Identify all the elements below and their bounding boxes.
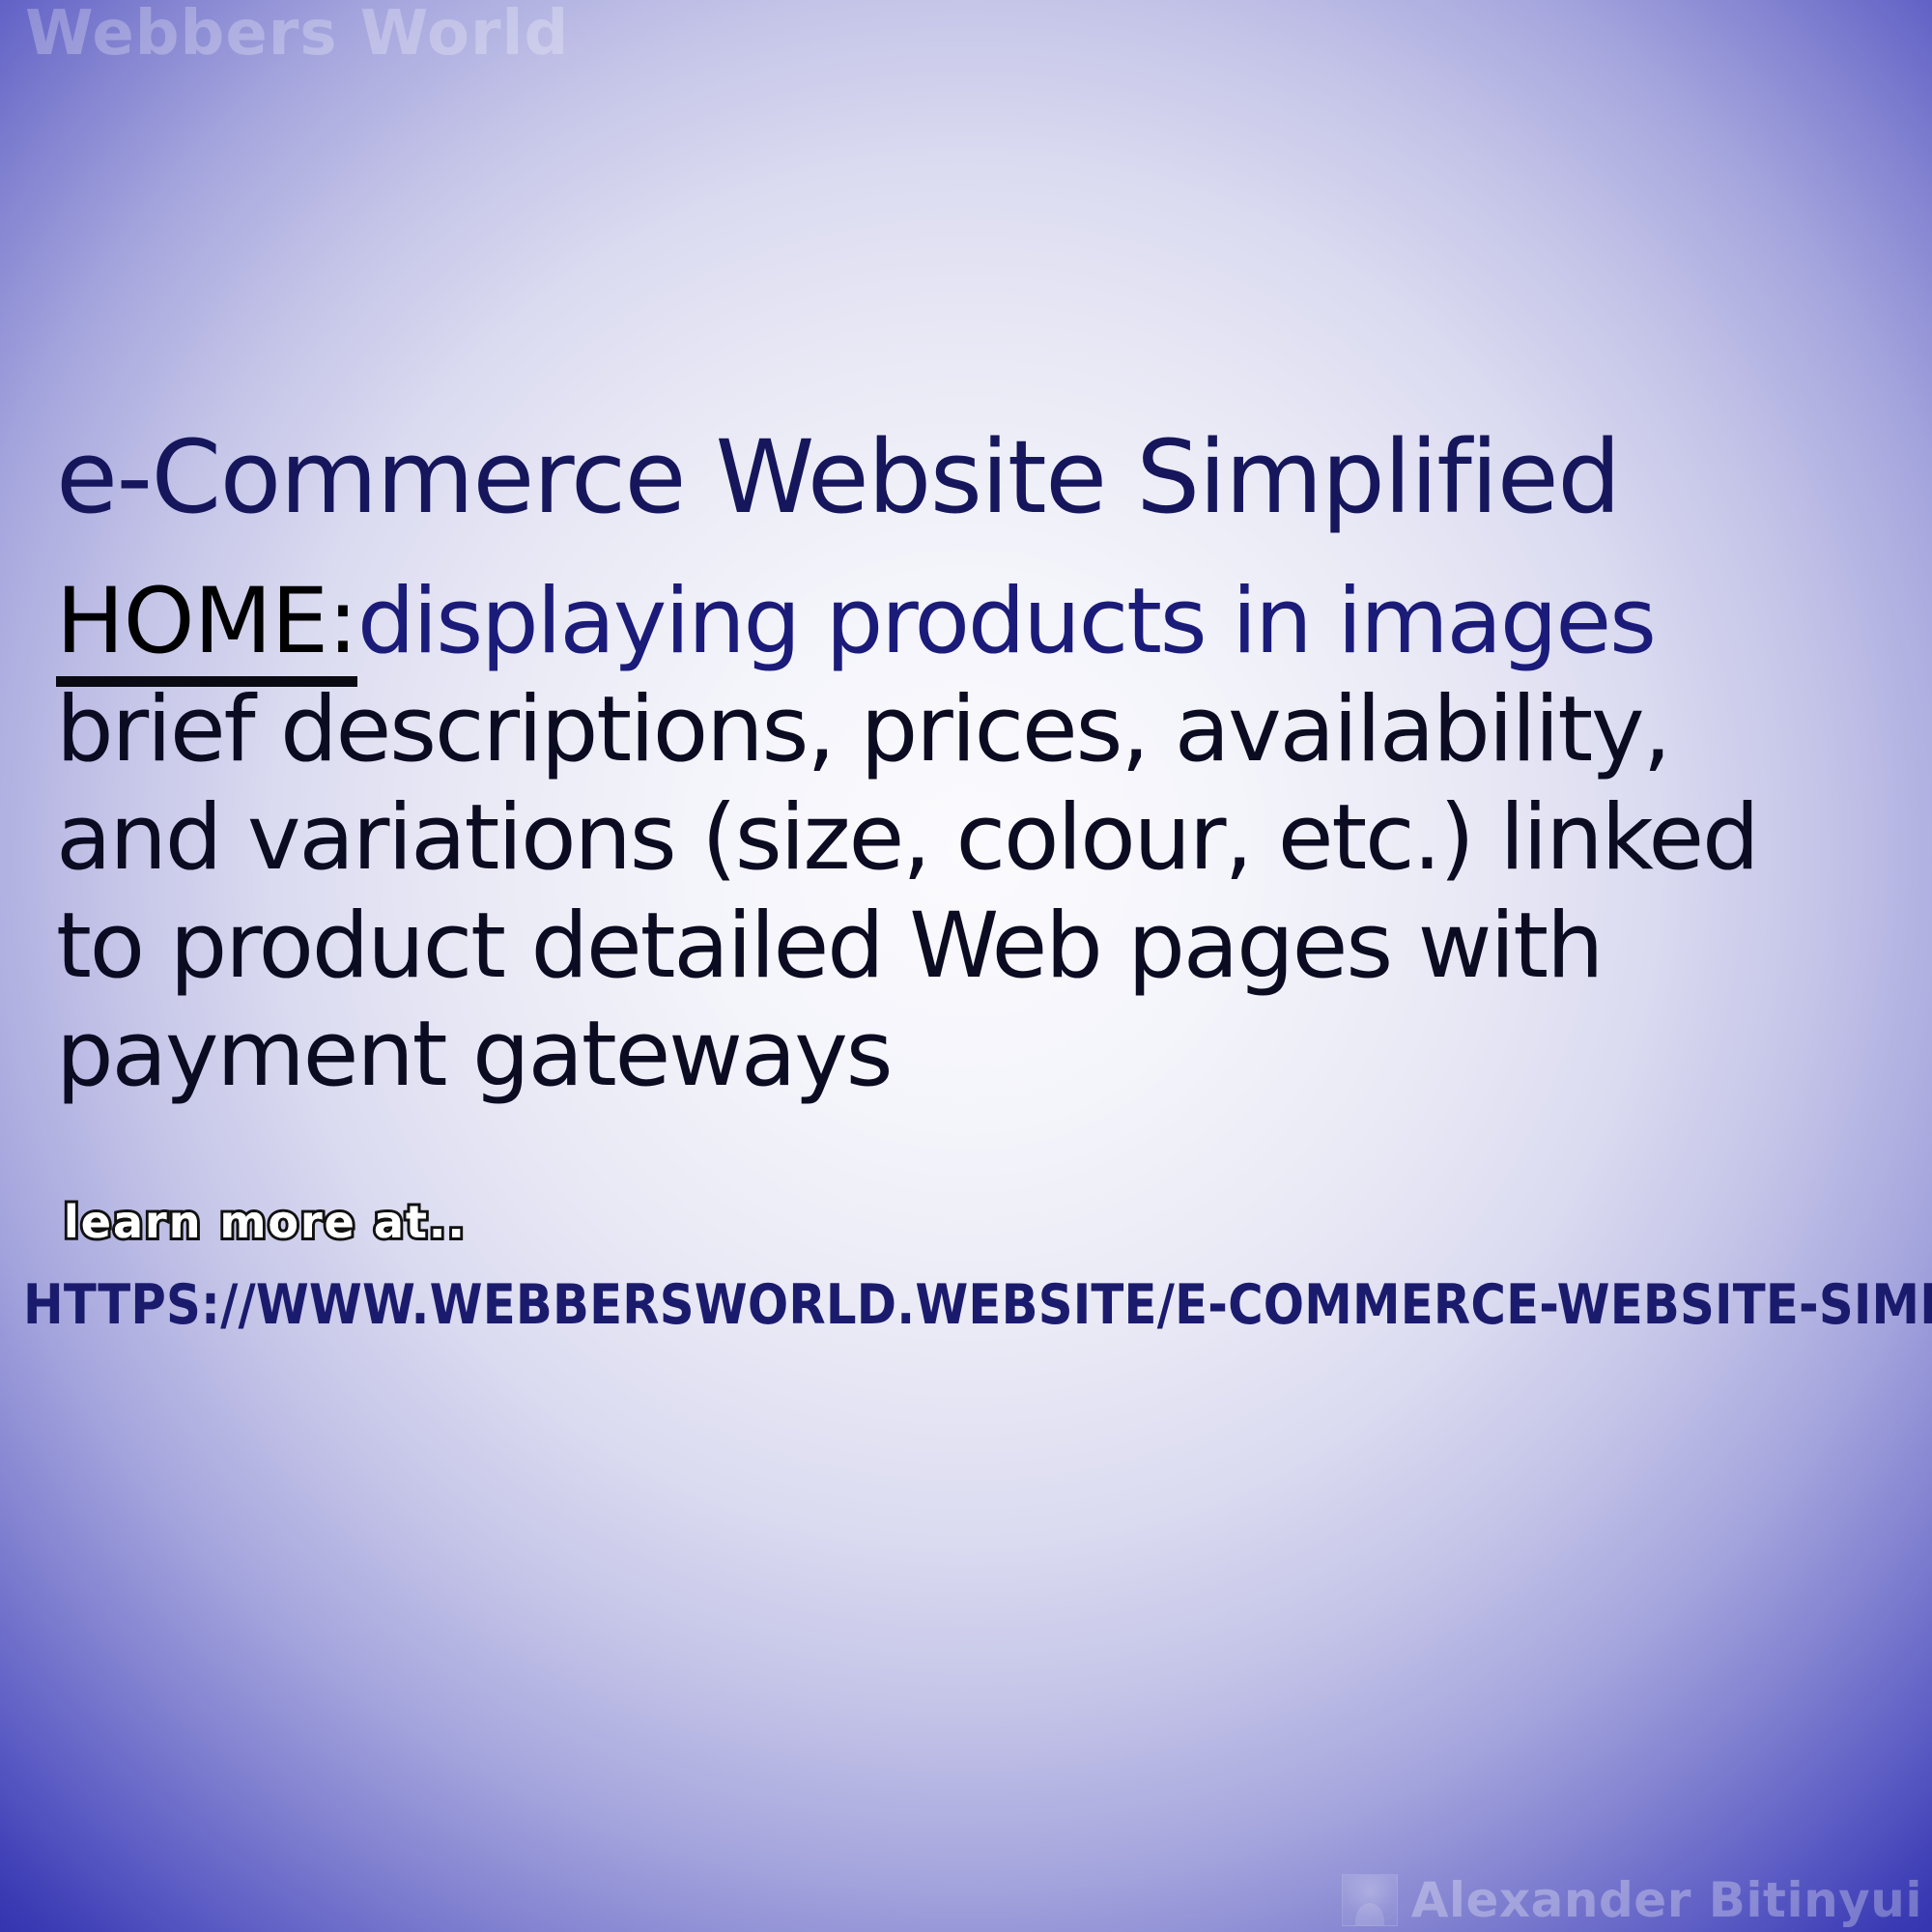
poster-canvas: Webbers World e-Commerce Website Simplif… (0, 0, 1932, 1932)
brand-watermark: Webbers World (25, 0, 569, 70)
body-line-1: HOME:displaying products in images (56, 568, 1891, 676)
body-line-1-text: displaying products in images (357, 569, 1655, 674)
body-line-3: and variations (size, colour, etc.) link… (56, 784, 1891, 893)
author-name: Alexander Bitinyui (1411, 1872, 1922, 1928)
body-line-2: brief descriptions, prices, availability… (56, 676, 1891, 784)
learn-more-label: learn more at.. (64, 1196, 467, 1248)
page-title: e-Commerce Website Simplified (56, 427, 1891, 527)
site-url-link[interactable]: HTTPS://WWW.WEBBERSWORLD.WEBSITE/E-COMME… (23, 1273, 1860, 1337)
home-section-label: HOME: (56, 569, 357, 687)
body-line-4: to product detailed Web pages with (56, 893, 1891, 1001)
person-photo-icon (1342, 1874, 1398, 1926)
author-credit: Alexander Bitinyui (1342, 1872, 1922, 1928)
body-text-block: HOME:displaying products in images brief… (56, 568, 1891, 1109)
body-line-5: payment gateways (56, 1001, 1891, 1109)
